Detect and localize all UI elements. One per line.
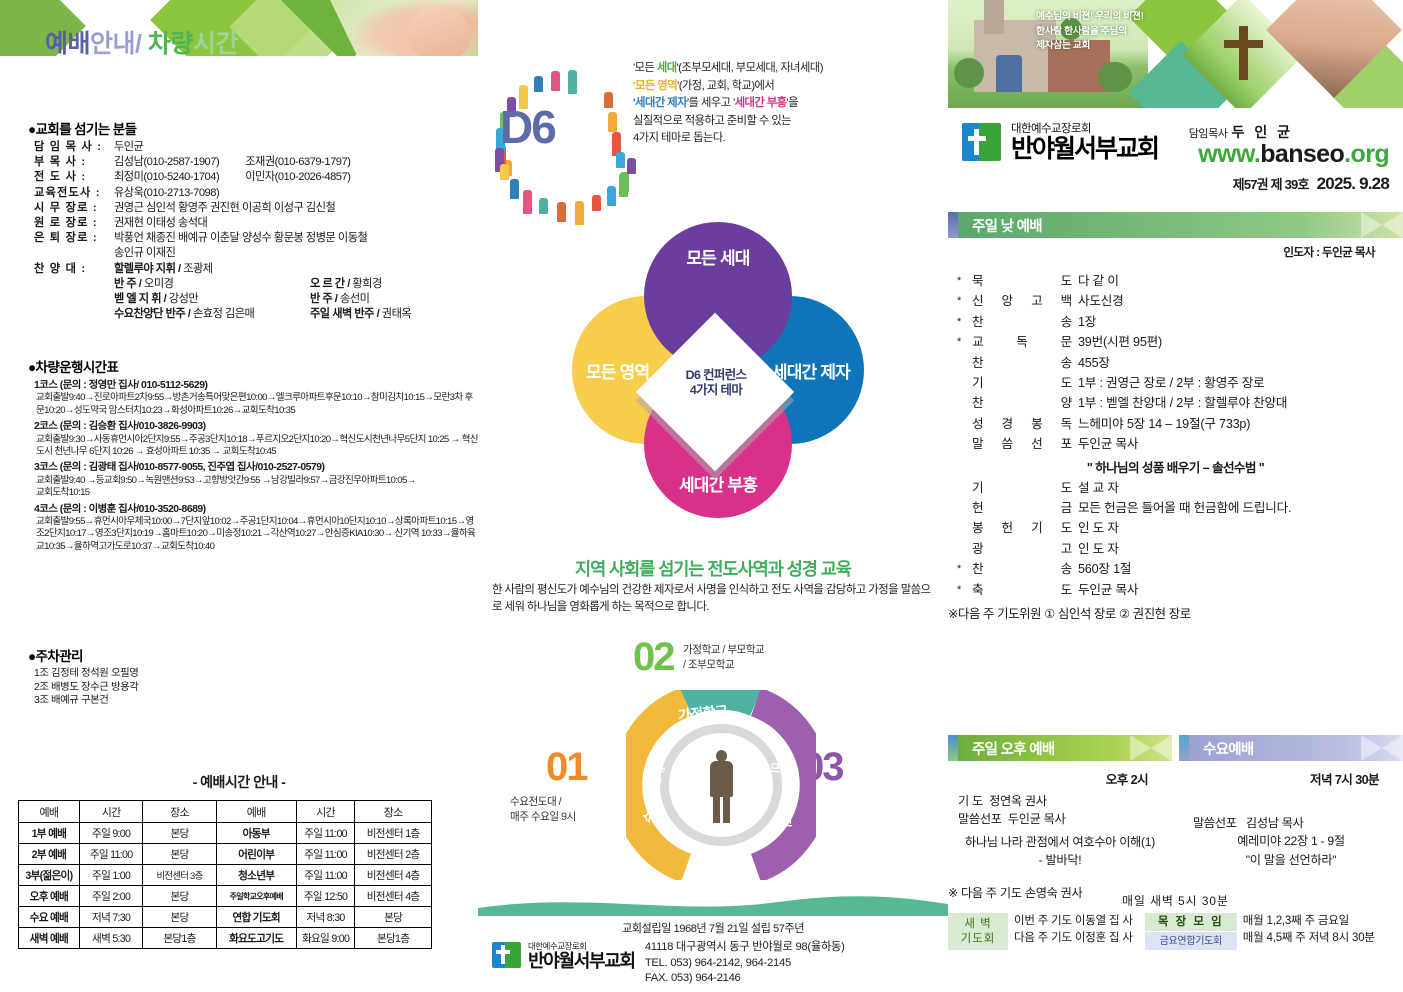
wednesday-scripture: 예레미야 22장 1 - 9절	[1179, 832, 1403, 850]
staff-section: ●교회를 섬기는 분들 담 임 목 사 :두인균부 목 사 :김성남(010-2…	[28, 118, 474, 322]
order-value: 모든 헌금은 들어올 때 헌금함에 드립니다.	[1078, 498, 1403, 518]
staff-row: 은 퇴 장로 :박풍언 채종진 배예규 이춘달 양성수 황문봉 정병문 이동철	[34, 231, 474, 246]
afternoon-rows: 기 도 정연옥 권사 말씀선포 두인균 목사	[948, 792, 1172, 829]
order-label: 찬송	[970, 559, 1078, 579]
d6-l2-a: '모든	[633, 80, 657, 92]
bus-course-title: 1코스 (문의 : 정영만 집사/ 010-5112-5629)	[34, 380, 478, 392]
table-row: 2부 예배주일 11:00본당어린이부주일 11:00비전센터 2층	[19, 844, 432, 865]
people-figure-icon	[557, 202, 566, 222]
people-figure-icon	[627, 158, 636, 174]
table-cell: 2부 예배	[19, 844, 80, 865]
order-value: 455장	[1078, 353, 1403, 373]
masthead-logo-block: 대한예수교장로회 반야월서부교회	[962, 120, 1158, 163]
issue-date: 2025. 9.28	[1317, 174, 1389, 193]
table-header-cell: 장소	[143, 801, 216, 823]
table-cell: 비전센터 4층	[355, 886, 432, 907]
worship-time-section: - 예배시간 안내 - 예배시간장소예배시간장소 1부 예배주일 9:00본당아…	[0, 772, 478, 949]
table-cell: 본당	[143, 844, 216, 865]
order-value: 인 도 자	[1078, 518, 1403, 538]
afternoon-sermon-2: - 발바닥!	[948, 851, 1172, 869]
choir-col-a: 수요찬양단 반주 / 손효정 김은매	[114, 307, 310, 322]
middle-column: D6 '모든 세대'(조부모세대, 부모세대, 자녀세대) '모든 영역'(가정…	[478, 0, 948, 992]
choir-row: 벧 엘 지 휘 / 강성만반 주 / 송선미	[34, 292, 474, 307]
order-label: 봉헌기도	[970, 518, 1078, 538]
sunday-service-title: 주일 낮 예배	[956, 212, 1042, 238]
staff-row: 부 목 사 :김성남(010-2587-1907)조재권(010-6379-17…	[34, 155, 474, 170]
table-cell: 본당1층	[355, 928, 432, 949]
bus-course-list: 1코스 (문의 : 정영만 집사/ 010-5112-5629)교회출발9:40…	[34, 380, 478, 553]
staff-row: 송인규 이재진	[34, 246, 474, 261]
staff-row-value: 김성남(010-2587-1907)조재권(010-6379-1797)	[114, 155, 474, 170]
afternoon-row-0-label: 기 도	[958, 794, 983, 808]
afternoon-sermon-1: 하나님 나라 관점에서 여호수아 이해(1)	[948, 833, 1172, 851]
church-spire	[984, 0, 1004, 34]
person-silhouette-icon	[710, 750, 732, 822]
order-star	[948, 353, 970, 373]
order-star	[948, 539, 970, 559]
people-figure-icon	[551, 71, 560, 91]
order-row: *찬송1장	[948, 312, 1403, 332]
vision-statement: 예수님의 비젼! 우리의 비젼! 한사람 한사람을 주님의 제자삼는 교회	[1036, 10, 1186, 54]
order-value: 느헤미야 5장 14 – 19절(구 733p)	[1078, 414, 1403, 434]
bus-heading: ●차량운행시간표	[28, 356, 478, 376]
table-cell: 저녁 8:30	[296, 907, 354, 928]
footer-denomination: 대한예수교장로회	[528, 941, 635, 951]
staff-row-value: 최정미(010-5240-1704)이민자(010-2026-4857)	[114, 170, 474, 185]
table-row: 오후 예배주일 2:00본당주일학교오후예배주일 12:50비전센터 4층	[19, 886, 432, 907]
table-cell: 연합 기도회	[216, 907, 296, 928]
footer-logo-text: 대한예수교장로회 반야월서부교회	[528, 940, 635, 971]
table-cell: 어린이부	[216, 844, 296, 865]
order-star	[948, 414, 970, 434]
d6-section: D6 '모든 세대'(조부모세대, 부모세대, 자녀세대) '모든 영역'(가정…	[478, 48, 948, 233]
order-value: 다 같 이	[1078, 271, 1403, 291]
people-figure-icon	[616, 152, 625, 168]
order-value: 1장	[1078, 312, 1403, 332]
bar-chevron-icon	[1361, 212, 1403, 238]
staff-row-label: 부 목 사 :	[34, 155, 114, 170]
bus-section: ●차량운행시간표 1코스 (문의 : 정영만 집사/ 010-5112-5629…	[28, 356, 478, 553]
order-row: 헌금모든 헌금은 들어올 때 헌금함에 드립니다.	[948, 498, 1403, 518]
table-cell: 아동부	[216, 823, 296, 844]
staff-row: 담 임 목 사 :두인균	[34, 140, 474, 155]
table-cell: 주일 1:00	[79, 865, 143, 886]
order-row: 기도설 교 자	[948, 478, 1403, 498]
table-cell: 저녁 7:30	[79, 907, 143, 928]
left-banner-title: 예배안내/ 차량시간	[45, 24, 238, 60]
sunday-order-list-1: *묵도다 같 이*신앙고백사도신경*찬송1장*교독문39번(시편 95편)찬송4…	[948, 271, 1403, 455]
left-column: 예배안내/ 차량시간 ●교회를 섬기는 분들 담 임 목 사 :두인균부 목 사…	[0, 0, 478, 992]
masthead-denomination: 대한예수교장로회	[1011, 120, 1158, 136]
d6-line-2: '모든 영역'(가정, 교회, 학교)에서	[633, 78, 933, 96]
bus-course-title: 2코스 (문의 : 김승환 집사/010-3826-9903)	[34, 421, 478, 433]
staff-row-label: 담 임 목 사 :	[34, 140, 114, 155]
choir-col-a: 할렐루야 지휘 / 조광제	[114, 262, 310, 277]
bus-course-title: 3코스 (문의 : 김광태 집사/010-8577-9055, 진주엽 집사/0…	[34, 462, 478, 474]
step-text-01: 수요전도대 / 매주 수요일 9시	[510, 795, 630, 824]
right-banner: 예수님의 비젼! 우리의 비젼! 한사람 한사람을 주님의 제자삼는 교회	[948, 0, 1403, 108]
choir-col-a: 반 주 / 오미경	[114, 277, 310, 292]
order-label: 찬송	[970, 353, 1078, 373]
table-cell: 1부 예배	[19, 823, 80, 844]
table-cell: 화요도고기도	[216, 928, 296, 949]
masthead-church-name: 반야월서부교회	[1011, 136, 1158, 163]
church-door	[996, 55, 1022, 92]
d6-l3-c: '를 세우고 '	[687, 97, 735, 109]
order-value: 1부 : 벧엘 찬양대 / 2부 : 할렐루야 찬양대	[1078, 393, 1403, 413]
dawn-right-row-1: 매월 4,5째 주 저녁 8시 30분	[1243, 930, 1375, 947]
people-figure-icon	[608, 112, 617, 132]
staff-row-label	[34, 246, 114, 261]
church-website[interactable]: www.banseo.org	[1198, 140, 1389, 169]
order-star	[948, 373, 970, 393]
dawn-tag-left: 새 벽 기도회	[948, 913, 1008, 950]
order-label: 헌금	[970, 498, 1078, 518]
tree-1	[954, 58, 984, 88]
order-label: 기도	[970, 478, 1078, 498]
table-cell: 비전센터 3층	[143, 865, 216, 886]
table-row: 1부 예배주일 9:00본당아동부주일 11:00비전센터 1층	[19, 823, 432, 844]
bus-course-route: 교회출발9:40→진로아파트2차9:55→방촌거송특어맞은편10:00→엘크루아…	[36, 392, 478, 417]
sunday-next-week-prayer: ※다음 주 기도위원 ① 심인석 장로 ② 권진현 장로	[948, 604, 1403, 622]
order-star: *	[948, 312, 970, 332]
footer-address-block: 대한예수교장로회 반야월서부교회 41118 대구광역시 동구 반야월로 98(…	[492, 940, 948, 987]
right-column: 예수님의 비젼! 우리의 비젼! 한사람 한사람을 주님의 제자삼는 교회 대한	[948, 0, 1403, 992]
order-row: *축도두인균 목사	[948, 580, 1403, 600]
table-cell: 주일학교오후예배	[216, 886, 296, 907]
pastor-name: 두 인 균	[1232, 124, 1293, 140]
choir-row-value: 벧 엘 지 휘 / 강성만반 주 / 송선미	[114, 292, 474, 307]
staff-row-value: 권영근 심인석 황영주 권진현 이공희 이성구 김신철	[114, 201, 474, 216]
order-star: *	[948, 332, 970, 352]
order-value: 설 교 자	[1078, 478, 1403, 498]
staff-row-label: 은 퇴 장로 :	[34, 231, 114, 246]
order-star: *	[948, 271, 970, 291]
choir-row: 찬 양 대 :할렐루야 지휘 / 조광제	[34, 262, 474, 277]
parking-row: 3조 배예규 구본건	[34, 694, 468, 708]
staff-row-value: 박풍언 채종진 배예규 이춘달 양성수 황문봉 정병문 이동철	[114, 231, 474, 246]
parking-section: ●주차관리 1조 김정테 정석원 오필영2조 배병도 장수근 방용각3조 배예규…	[28, 645, 468, 708]
pastor-label: 담임목사	[1189, 128, 1228, 140]
bar-chevron-icon	[1361, 735, 1403, 761]
parking-row: 1조 김정테 정석원 오필영	[34, 667, 468, 681]
order-row: 광고인 도 자	[948, 539, 1403, 559]
venn-center-line-2: 4가지 테마	[657, 383, 775, 398]
people-figure-icon	[607, 186, 616, 206]
bus-course-route: 교회출발9:55→휴먼시아우체국10:00→7단지앞10:02→주공1단지10:…	[36, 516, 478, 553]
people-figure-icon	[568, 70, 577, 94]
dawn-rows-right: 매월 1,2,3째 주 금요일 매월 4,5째 주 저녁 8시 30분	[1243, 913, 1375, 950]
d6-l3-e: '을	[787, 97, 798, 109]
people-figure-icon	[510, 179, 519, 199]
table-cell: 새벽 5:30	[79, 928, 143, 949]
choir-col-b	[310, 262, 474, 277]
order-row: 봉헌기도인 도 자	[948, 518, 1403, 538]
table-cell: 주일 9:00	[79, 823, 143, 844]
wednesday-service-col: 수요예배 저녁 7시 30분 말씀선포 김성남 목사 예레미야 22장 1 - …	[1179, 735, 1403, 902]
table-cell: 본당1층	[143, 928, 216, 949]
address-line-1: 41118 대구광역시 동구 반야월로 98(율하동)	[645, 940, 845, 956]
sunday-order-list-2: 기도설 교 자헌금모든 헌금은 들어올 때 헌금함에 드립니다.봉헌기도인 도 …	[948, 478, 1403, 600]
order-star	[948, 434, 970, 454]
choir-col-b: 주일 새벽 반주 / 권태옥	[310, 307, 474, 322]
staff-row-label: 원 로 장로 :	[34, 216, 114, 231]
wednesday-row-0-label: 말씀선포	[1193, 816, 1237, 830]
order-row: 성경봉독느헤미야 5장 14 – 19절(구 733p)	[948, 414, 1403, 434]
d6-l3-b: 세대간 제자	[635, 97, 687, 109]
ring-label-right: 여성경이해지미	[760, 762, 800, 837]
choir-col-a: 벧 엘 지 휘 / 강성만	[114, 292, 310, 307]
staff-row-value: 권재현 이태성 송석대	[114, 216, 474, 231]
staff-row: 시 무 장로 :권영근 심인석 황영주 권진현 이공희 이성구 김신철	[34, 201, 474, 216]
dawn-tag-right-2: 금요연합기도회	[1145, 932, 1237, 950]
afternoon-time: 오후 2시	[948, 769, 1172, 788]
founding-date: 교회설립일 1968년 7월 21일 설립 57주년	[478, 920, 948, 936]
order-label: 광고	[970, 539, 1078, 559]
choir-row-value: 반 주 / 오미경오 르 간 / 황희경	[114, 277, 474, 292]
table-cell: 본당	[143, 886, 216, 907]
mission-heading: 지역 사회를 섬기는 전도사역과 성경 교육	[478, 556, 948, 581]
order-row: *교독문39번(시편 95편)	[948, 332, 1403, 352]
afternoon-row-1-label: 말씀선포	[958, 812, 1002, 826]
table-cell: 주일 11:00	[296, 865, 354, 886]
order-star	[948, 478, 970, 498]
d6-wordmark: D6	[500, 100, 555, 154]
d6-description: '모든 세대'(조부모세대, 부모세대, 자녀세대) '모든 영역'(가정, 교…	[633, 60, 933, 148]
order-row: 찬양1부 : 벧엘 찬양대 / 2부 : 할렐루야 찬양대	[948, 393, 1403, 413]
d6-line-1: '모든 세대'(조부모세대, 부모세대, 자녀세대)	[633, 60, 933, 78]
staff-heading: ●교회를 섬기는 분들	[28, 118, 474, 138]
order-row: *찬송560장 1절	[948, 559, 1403, 579]
dawn-left-row-0: 이번 주 기도 이동열 집 사	[1014, 913, 1133, 930]
order-value: 560장 1절	[1078, 559, 1403, 579]
staff-row-value: 유상욱(010-2713-7098)	[114, 186, 474, 201]
table-cell: 비전센터 4층	[355, 865, 432, 886]
cross-icon	[1218, 26, 1268, 84]
d6-l3-d: 세대간 부흥	[735, 97, 787, 109]
d6-line-5: 4가지 테마로 돕는다.	[633, 130, 933, 148]
address-lines: 41118 대구광역시 동구 반야월로 98(율하동) TEL. 053) 96…	[645, 940, 845, 987]
table-cell: 주일 11:00	[79, 844, 143, 865]
table-row: 새벽 예배새벽 5:30본당1층화요도고기도화요일 9:00본당1층	[19, 928, 432, 949]
table-body: 1부 예배주일 9:00본당아동부주일 11:00비전센터 1층2부 예배주일 …	[19, 823, 432, 949]
step-text-02: 가정학교 / 부모학교 / 조부모학교	[683, 643, 833, 672]
d6-l1-a: '모든	[633, 62, 657, 74]
order-star	[948, 498, 970, 518]
worship-time-table: 예배시간장소예배시간장소 1부 예배주일 9:00본당아동부주일 11:00비전…	[18, 800, 432, 949]
table-cell: 수요 예배	[19, 907, 80, 928]
masthead-names: 대한예수교장로회 반야월서부교회	[1011, 120, 1158, 163]
table-cell: 본당	[143, 907, 216, 928]
sunday-service-block: 주일 낮 예배 인도자 : 두인균 목사 *묵도다 같 이*신앙고백사도신경*찬…	[948, 212, 1403, 622]
left-banner: 예배안내/ 차량시간	[0, 0, 478, 82]
order-value: 사도신경	[1078, 291, 1403, 311]
sunday-sermon-title: " 하나님의 성품 배우기 – 솔선수범 "	[948, 457, 1403, 476]
table-cell: 화요일 9:00	[296, 928, 354, 949]
dawn-daily-time: 매일 새벽 5시 30분	[948, 892, 1403, 909]
wednesday-rows: 말씀선포 김성남 목사	[1179, 814, 1403, 832]
order-value: 39번(시편 95편)	[1078, 332, 1403, 352]
order-label: 묵도	[970, 271, 1078, 291]
ring-diagram: 가정학교 수요전도대 여성경이해지미	[626, 690, 816, 870]
order-value: 인 도 자	[1078, 539, 1403, 559]
wednesday-service-bar: 수요예배	[1179, 735, 1403, 761]
afternoon-wednesday-block: 주일 오후 예배 오후 2시 기 도 정연옥 권사 말씀선포 두인균 목사 하나…	[948, 735, 1403, 902]
order-star	[948, 518, 970, 538]
table-cell: 새벽 예배	[19, 928, 80, 949]
people-figure-icon	[500, 164, 509, 180]
bus-course-title: 4코스 (문의 : 이병훈 집사/010-3520-8689)	[34, 504, 478, 516]
afternoon-row-0-value: 정연옥 권사	[989, 794, 1047, 808]
address-line-2: TEL. 053) 964-2142, 964-2145	[645, 956, 845, 972]
d6-l2-c: '(가정, 교회, 학교)에서	[677, 80, 774, 92]
table-cell: 오후 예배	[19, 886, 80, 907]
d6-line-3: '세대간 제자'를 세우고 '세대간 부흥'을	[633, 95, 933, 113]
table-cell: 주일 12:50	[296, 886, 354, 907]
choir-row: 반 주 / 오미경오 르 간 / 황희경	[34, 277, 474, 292]
masthead-pastor: 담임목사두 인 균	[1189, 122, 1293, 142]
title-part-2: 안내/	[90, 30, 148, 58]
vision-line-3: 제자삼는 교회	[1036, 39, 1186, 54]
wednesday-time: 저녁 7시 30분	[1179, 769, 1403, 788]
choir-row-value: 수요찬양단 반주 / 손효정 김은매주일 새벽 반주 / 권태옥	[114, 307, 474, 322]
footer-church-name: 반야월서부교회	[528, 951, 635, 971]
afternoon-row-0: 기 도 정연옥 권사	[958, 792, 1172, 810]
d6-line-4: 실질적으로 적용하고 준비할 수 있는	[633, 113, 933, 131]
table-cell: 주일 11:00	[296, 844, 354, 865]
url-part-3: .org	[1344, 140, 1389, 168]
parking-row: 2조 배병도 장수근 방용각	[34, 681, 468, 695]
dawn-right-row-0: 매월 1,2,3째 주 금요일	[1243, 913, 1375, 930]
choir-row-label	[34, 292, 114, 307]
title-part-3: 차량	[148, 30, 193, 58]
table-row: 수요 예배저녁 7:30본당연합 기도회저녁 8:30본당	[19, 907, 432, 928]
dawn-grid: 새 벽 기도회 이번 주 기도 이동열 집 사 다음 주 기도 이정훈 집 사 …	[948, 913, 1403, 950]
afternoon-service-title: 주일 오후 예배	[956, 735, 1055, 761]
mission-body: 한 사람의 평신도가 예수님의 건강한 제자로서 사명을 인식하고 전도 사역을…	[492, 582, 936, 616]
bus-course-route: 교회출발9:40 →등교회9:50→녹원맨션9:53→고향방앗간9:55 →남강…	[36, 475, 478, 500]
people-figure-icon	[604, 92, 613, 108]
venn-diagram: 모든 영역 세대간 제자 모든 세대 세대간 부흥 D6 컨퍼런스 4가지 테마	[538, 222, 898, 532]
staff-list: 담 임 목 사 :두인균부 목 사 :김성남(010-2587-1907)조재권…	[34, 140, 474, 322]
choir-row-label: 찬 양 대 :	[34, 262, 114, 277]
table-cell: 3부(젊은이)	[19, 865, 80, 886]
staff-row: 원 로 장로 :권재현 이태성 송석대	[34, 216, 474, 231]
order-row: 말씀선포두인균 목사	[948, 434, 1403, 454]
table-cell: 비전센터 2층	[355, 844, 432, 865]
staff-row: 전 도 사 :최정미(010-5240-1704)이민자(010-2026-48…	[34, 170, 474, 185]
staff-row-label: 전 도 사 :	[34, 170, 114, 185]
dawn-gap	[1133, 913, 1145, 950]
staff-row: 교육전도사 :유상욱(010-2713-7098)	[34, 186, 474, 201]
sunday-service-bar: 주일 낮 예배	[948, 212, 1403, 238]
church-logo-icon	[492, 940, 522, 970]
dawn-left-row-1: 다음 주 기도 이정훈 집 사	[1014, 930, 1133, 947]
tree-2	[1098, 62, 1132, 92]
dawn-prayer-block: 매일 새벽 5시 30분 새 벽 기도회 이번 주 기도 이동열 집 사 다음 …	[948, 880, 1403, 950]
choir-row-value: 할렐루야 지휘 / 조광제	[114, 262, 474, 277]
wednesday-service-title: 수요예배	[1187, 735, 1254, 761]
table-cell: 주일 2:00	[79, 886, 143, 907]
staff-row-value: 송인규 이재진	[114, 246, 474, 261]
title-part-1: 예배	[45, 30, 90, 58]
order-row: *묵도다 같 이	[948, 271, 1403, 291]
people-figure-icon	[539, 198, 548, 214]
table-header-row: 예배시간장소예배시간장소	[19, 801, 432, 823]
order-label: 축도	[970, 580, 1078, 600]
afternoon-row-1-value: 두인균 목사	[1008, 812, 1066, 826]
choir-row: 수요찬양단 반주 / 손효정 김은매주일 새벽 반주 / 권태옥	[34, 307, 474, 322]
order-star: *	[948, 291, 970, 311]
choir-col-b: 반 주 / 송선미	[310, 292, 474, 307]
parking-heading: ●주차관리	[28, 645, 468, 665]
table-header-cell: 예배	[19, 801, 80, 823]
wednesday-row-0-value: 김성남 목사	[1246, 816, 1304, 830]
order-value: 1부 : 권영근 장로 / 2부 : 황영주 장로	[1078, 373, 1403, 393]
afternoon-service-col: 주일 오후 예배 오후 2시 기 도 정연옥 권사 말씀선포 두인균 목사 하나…	[948, 735, 1172, 902]
choir-row-label	[34, 277, 114, 292]
vision-line-1: 예수님의 비젼! 우리의 비젼!	[1036, 10, 1186, 25]
url-part-2: banseo	[1260, 140, 1344, 168]
dawn-rows-left: 이번 주 기도 이동열 집 사 다음 주 기도 이정훈 집 사	[1014, 913, 1133, 950]
order-label: 성경봉독	[970, 414, 1078, 434]
church-logo-icon-main	[962, 121, 1002, 163]
staff-row-label: 시 무 장로 :	[34, 201, 114, 216]
sunday-leader: 인도자 : 두인균 목사	[948, 244, 1403, 260]
title-part-4: 시간	[193, 30, 238, 58]
order-row: *신앙고백사도신경	[948, 291, 1403, 311]
bulletin-page: 예배안내/ 차량시간 ●교회를 섬기는 분들 담 임 목 사 :두인균부 목 사…	[0, 0, 1403, 992]
worship-table-title: - 예배시간 안내 -	[0, 772, 478, 792]
green-wave-divider	[478, 890, 948, 916]
choir-col-b: 오 르 간 / 황희경	[310, 277, 474, 292]
afternoon-service-bar: 주일 오후 예배	[948, 735, 1172, 761]
staff-row-value: 두인균	[114, 140, 474, 155]
table-cell: 본당	[355, 907, 432, 928]
people-figure-icon	[619, 173, 628, 197]
order-label: 말씀선포	[970, 434, 1078, 454]
table-header-cell: 시간	[296, 801, 354, 823]
d6-l2-b: 영역	[657, 80, 677, 92]
people-figure-icon	[592, 195, 601, 211]
staff-row-label: 교육전도사 :	[34, 186, 114, 201]
people-figure-icon	[523, 190, 532, 214]
vision-line-2: 한사람 한사람을 주님의	[1036, 25, 1186, 40]
order-row: 기도1부 : 권영근 장로 / 2부 : 황영주 장로	[948, 373, 1403, 393]
table-header-cell: 예배	[216, 801, 296, 823]
table-row: 3부(젊은이)주일 1:00비전센터 3층청소년부주일 11:00비전센터 4층	[19, 865, 432, 886]
table-header-cell: 장소	[355, 801, 432, 823]
venn-center-label: D6 컨퍼런스 4가지 테마	[657, 368, 775, 398]
issue-number: 제57권 제 39호	[1233, 177, 1309, 192]
address-line-3: FAX. 053) 964-2146	[645, 971, 845, 987]
venn-center-line-1: D6 컨퍼런스	[657, 368, 775, 383]
afternoon-row-1: 말씀선포 두인균 목사	[958, 810, 1172, 828]
table-cell: 주일 11:00	[296, 823, 354, 844]
dawn-right-tags: 목 장 모 임 금요연합기도회	[1145, 913, 1237, 950]
d6-l1-b: 세대	[657, 62, 677, 74]
wednesday-sermon-title: "이 말을 선언하라"	[1179, 851, 1403, 869]
order-label: 신앙고백	[970, 291, 1078, 311]
order-label: 찬송	[970, 312, 1078, 332]
step-number-01: 01	[546, 745, 587, 790]
parking-list: 1조 김정테 정석원 오필영2조 배병도 장수근 방용각3조 배예규 구본건	[34, 667, 468, 708]
order-row: 찬송455장	[948, 353, 1403, 373]
bus-course-route: 교회출발9:30→사동휴먼시아2단지9:55→주공3단지10:18→푸르지오2단…	[36, 434, 478, 459]
order-label: 교독문	[970, 332, 1078, 352]
order-value: 두인균 목사	[1078, 434, 1403, 454]
people-figure-icon	[534, 76, 543, 92]
